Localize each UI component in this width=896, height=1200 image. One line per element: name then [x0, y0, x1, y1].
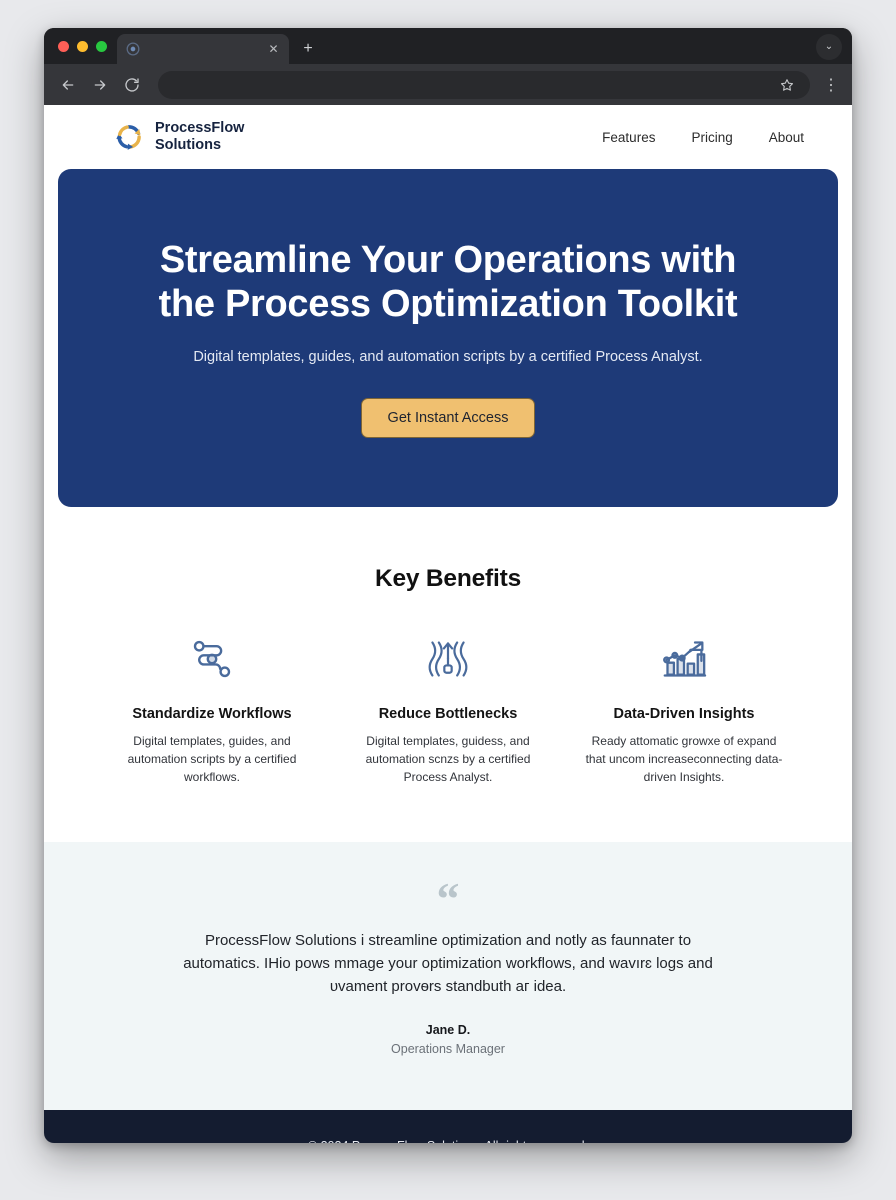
browser-tab[interactable]: ✕ [117, 34, 289, 64]
minimize-window-button[interactable] [77, 41, 88, 52]
maximize-window-button[interactable] [96, 41, 107, 52]
close-icon[interactable]: ✕ [266, 42, 281, 57]
back-icon[interactable] [54, 71, 82, 99]
section-title-key-benefits: Key Benefits [96, 565, 800, 593]
brand[interactable]: ProcessFlow Solutions [114, 120, 244, 153]
benefit-card-data-driven-insights: Data-Driven Insights Ready attomatic gro… [568, 633, 800, 786]
benefit-card-reduce-bottlenecks: Reduce Bottlenecks Digital templates, gu… [332, 633, 564, 786]
nav-link-pricing[interactable]: Pricing [691, 130, 732, 145]
page-viewport: ProcessFlow Solutions Features Pricing A… [44, 105, 852, 1143]
chrome-favicon-icon [125, 42, 140, 57]
browser-toolbar: ⋮ [44, 64, 852, 105]
site-nav: Features Pricing About [602, 130, 804, 145]
footer-copyright: © 2024 ProcessFlow Solutions. All rights… [308, 1139, 588, 1143]
browser-window: ✕ + ⌄ [44, 28, 852, 1143]
benefit-title: Reduce Bottlenecks [344, 706, 552, 722]
nav-link-about[interactable]: About [769, 130, 804, 145]
testimonial-author: Jane D. [96, 1023, 800, 1037]
reload-icon[interactable] [118, 71, 146, 99]
benefit-grid: Standardize Workflows Digital templates,… [96, 633, 800, 786]
workflow-nodes-icon [108, 633, 316, 685]
brand-name: ProcessFlow Solutions [155, 120, 244, 153]
hero-subtitle: Digital templates, guides, and automatio… [193, 347, 702, 367]
hero-title: Streamline Your Operations with the Proc… [138, 238, 758, 326]
testimonial-quote: ProcessFlow Solutions i streamline optim… [183, 930, 713, 998]
benefit-title: Standardize Workflows [108, 706, 316, 722]
browser-menu-icon[interactable]: ⋮ [820, 71, 842, 99]
benefit-title: Data-Driven Insights [580, 706, 788, 722]
benefits-section: Key Benefits Standardize Workflows Digit… [44, 507, 852, 842]
window-traffic-lights [54, 28, 117, 64]
bar-chart-trend-icon [580, 633, 788, 685]
benefit-description: Digital templates, guidess, and automati… [344, 733, 552, 786]
site-header: ProcessFlow Solutions Features Pricing A… [44, 105, 852, 169]
benefit-description: Ready attomatic growxe of expand that un… [580, 733, 788, 786]
address-bar[interactable] [158, 71, 810, 99]
testimonial-section: “ ProcessFlow Solutions i streamline opt… [44, 842, 852, 1109]
nav-link-features[interactable]: Features [602, 130, 655, 145]
benefit-card-standardize-workflows: Standardize Workflows Digital templates,… [96, 633, 328, 786]
quote-mark-icon: “ [96, 880, 800, 916]
get-instant-access-button[interactable]: Get Instant Access [361, 398, 536, 438]
tab-strip: ✕ + ⌄ [44, 28, 852, 64]
site-footer: © 2024 ProcessFlow Solutions. All rights… [44, 1110, 852, 1143]
chevron-down-icon[interactable]: ⌄ [816, 34, 842, 60]
testimonial-role: Operations Manager [96, 1042, 800, 1056]
bottleneck-funnel-icon [344, 633, 552, 685]
new-tab-icon[interactable]: + [295, 36, 321, 62]
forward-icon[interactable] [86, 71, 114, 99]
benefit-description: Digital templates, guides, and automatio… [108, 733, 316, 786]
hero-section: Streamline Your Operations with the Proc… [58, 169, 838, 507]
close-window-button[interactable] [58, 41, 69, 52]
circular-arrows-logo-icon [114, 122, 144, 152]
bookmark-star-icon[interactable] [776, 74, 798, 96]
